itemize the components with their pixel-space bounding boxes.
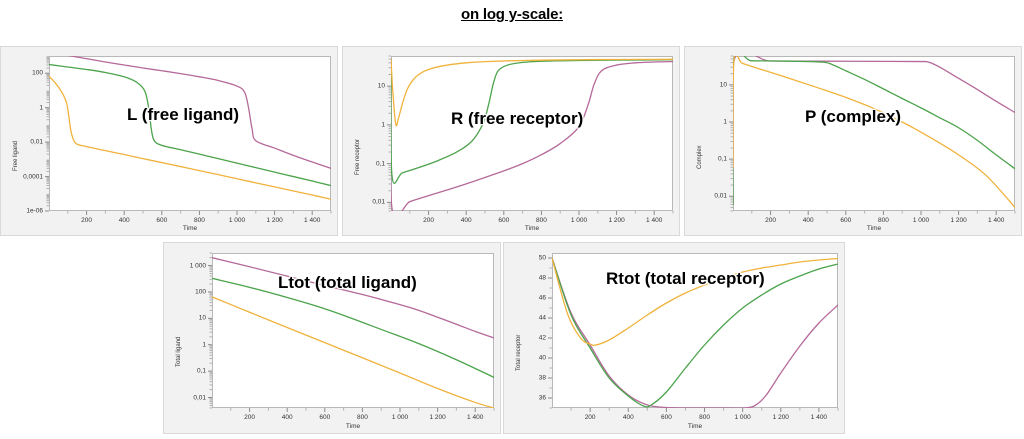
y-tick-label: 1e-06 [1, 208, 43, 215]
y-tick-label: 100 [164, 288, 206, 295]
series-line-green [212, 278, 494, 377]
x-tick-label: 1 400 [467, 414, 483, 421]
y-tick-label: 0,0001 [1, 173, 43, 180]
x-tick-label: 1 000 [735, 414, 751, 421]
y-axis-label-R: Free receptor [355, 139, 361, 175]
x-tick-label: 1 200 [429, 414, 445, 421]
y-tick-label: 100 [1, 70, 43, 77]
x-tick-label: 1 400 [811, 414, 827, 421]
x-tick-label: 800 [536, 217, 547, 224]
x-tick-label: 600 [661, 414, 672, 421]
x-tick-label: 400 [282, 414, 293, 421]
y-tick-label: 46 [504, 295, 546, 302]
y-tick-label: 0,01 [1, 139, 43, 146]
x-tick-label: 1 000 [571, 217, 587, 224]
y-tick-label: 0,01 [164, 394, 206, 401]
y-tick-label: 1 [1, 104, 43, 111]
y-tick-label: 40 [504, 355, 546, 362]
x-tick-label: 200 [244, 414, 255, 421]
y-tick-label: 0,1 [343, 160, 385, 167]
y-tick-label: 42 [504, 335, 546, 342]
x-tick-label: 600 [840, 217, 851, 224]
overlay-title-L: L (free ligand) [127, 105, 239, 125]
x-axis-label-Rtot: Time [552, 423, 838, 430]
y-tick-label: 0,01 [685, 193, 727, 200]
x-tick-label: 1 200 [266, 217, 282, 224]
y-tick-label: 38 [504, 375, 546, 382]
x-tick-label: 200 [423, 217, 434, 224]
x-axis-label-P: Time [733, 225, 1015, 232]
series-line-magenta [212, 258, 494, 338]
x-tick-label: 600 [319, 414, 330, 421]
x-tick-label: 1 200 [608, 217, 624, 224]
curves-L [1, 47, 339, 237]
x-tick-label: 800 [699, 414, 710, 421]
y-tick-label: 10 [164, 315, 206, 322]
x-tick-label: 400 [623, 414, 634, 421]
x-tick-label: 800 [878, 217, 889, 224]
y-tick-label: 1 [685, 118, 727, 125]
y-tick-label: 36 [504, 395, 546, 402]
x-tick-label: 800 [357, 414, 368, 421]
series-line-magenta [390, 59, 673, 217]
overlay-title-P: P (complex) [805, 107, 901, 127]
curves-P [685, 47, 1023, 237]
x-tick-label: 600 [156, 217, 167, 224]
curves-Ltot [164, 243, 502, 435]
x-tick-label: 600 [498, 217, 509, 224]
x-tick-label: 1 400 [646, 217, 662, 224]
overlay-title-Rtot: Rtot (total receptor) [606, 269, 765, 289]
overlay-title-Ltot: Ltot (total ligand) [278, 273, 417, 293]
y-tick-label: 10 [685, 81, 727, 88]
y-tick-label: 0,01 [343, 199, 385, 206]
x-axis-label-R: Time [391, 225, 673, 232]
x-tick-label: 1 000 [392, 414, 408, 421]
x-tick-label: 1 400 [304, 217, 320, 224]
y-tick-label: 1 [343, 121, 385, 128]
chart-panel-Rtot: Total receptor Time Rtot (total receptor… [503, 242, 845, 434]
x-axis-label-Ltot: Time [212, 423, 494, 430]
x-tick-label: 200 [585, 414, 596, 421]
chart-panel-Ltot: Total ligand Time Ltot (total ligand) 1 … [163, 242, 501, 434]
curves-R [343, 47, 681, 237]
y-tick-label: 0,1 [164, 368, 206, 375]
y-tick-label: 0,1 [685, 156, 727, 163]
y-tick-label: 1 [164, 341, 206, 348]
x-axis-label-L: Time [49, 225, 331, 232]
overlay-title-R: R (free receptor) [451, 109, 583, 129]
x-tick-label: 400 [461, 217, 472, 224]
chart-panel-L: Free ligand Time L (free ligand) 10010,0… [0, 46, 338, 236]
y-tick-label: 1 000 [164, 262, 206, 269]
y-tick-label: 50 [504, 255, 546, 262]
y-tick-label: 10 [343, 83, 385, 90]
series-line-orange [733, 53, 1015, 207]
x-tick-label: 1 000 [913, 217, 929, 224]
series-line-orange [49, 76, 331, 199]
chart-panel-P: Complex Time P (complex) 1010,10,0120040… [684, 46, 1022, 236]
x-tick-label: 400 [119, 217, 130, 224]
y-tick-label: 44 [504, 315, 546, 322]
x-tick-label: 1 400 [988, 217, 1004, 224]
page-title: on log y-scale: [0, 6, 1024, 23]
x-tick-label: 200 [765, 217, 776, 224]
x-tick-label: 1 000 [229, 217, 245, 224]
series-line-green [49, 65, 331, 186]
y-tick-label: 48 [504, 275, 546, 282]
x-tick-label: 1 200 [950, 217, 966, 224]
x-tick-label: 200 [81, 217, 92, 224]
chart-panel-R: Free receptor Time R (free receptor) 101… [342, 46, 680, 236]
x-tick-label: 400 [803, 217, 814, 224]
x-tick-label: 1 200 [773, 414, 789, 421]
x-tick-label: 800 [194, 217, 205, 224]
series-line-orange [212, 297, 494, 408]
